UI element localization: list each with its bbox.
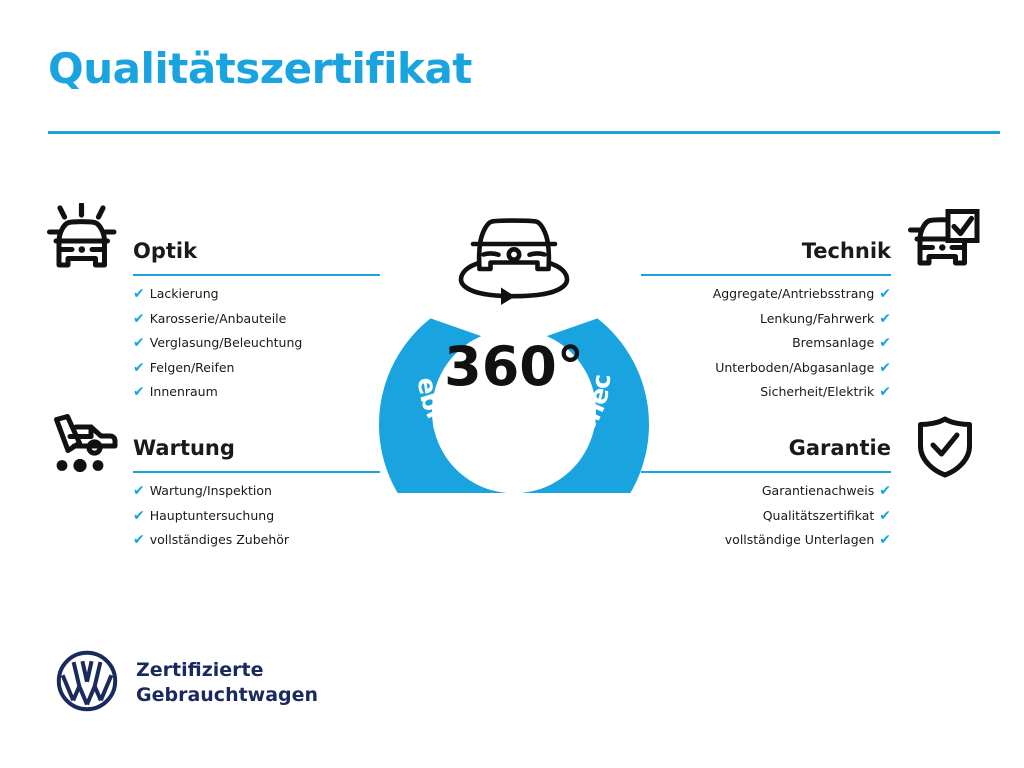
list-item: ✔vollständiges Zubehör xyxy=(133,528,380,553)
list-item-label: Garantienachweis xyxy=(762,483,874,498)
list-item: Sicherheit/Elektrik✔ xyxy=(641,380,891,405)
list-item: vollständige Unterlagen✔ xyxy=(641,528,891,553)
list-item: ✔Verglasung/Beleuchtung xyxy=(133,331,380,356)
list-item-label: Bremsanlage xyxy=(792,335,874,350)
check-icon: ✔ xyxy=(879,480,891,504)
check-icon: ✔ xyxy=(879,332,891,356)
list-item-label: Innenraum xyxy=(150,384,218,399)
list-item: ✔Innenraum xyxy=(133,380,380,405)
car-checkbox-icon xyxy=(908,209,980,275)
list-item: Lenkung/Fahrwerk✔ xyxy=(641,307,891,332)
list-item-label: vollständige Unterlagen xyxy=(725,532,874,547)
footer-logo-line2: Gebrauchtwagen xyxy=(136,683,318,708)
list-item-label: Aggregate/Antriebsstrang xyxy=(713,286,875,301)
check-icon: ✔ xyxy=(879,529,891,553)
section-technik-header: Technik xyxy=(641,238,891,282)
check-icon: ✔ xyxy=(133,308,145,332)
list-item: ✔Felgen/Reifen xyxy=(133,356,380,381)
footer-logo: Zertifizierte Gebrauchtwagen xyxy=(56,650,318,716)
header-divider xyxy=(48,131,1000,134)
check-icon: ✔ xyxy=(879,308,891,332)
list-item: Qualitätszertifikat✔ xyxy=(641,504,891,529)
list-item-label: vollständiges Zubehör xyxy=(150,532,289,547)
list-item: ✔Karosserie/Anbauteile xyxy=(133,307,380,332)
check-icon: ✔ xyxy=(879,357,891,381)
list-item-label: Lackierung xyxy=(150,286,219,301)
list-item-label: Unterboden/Abgasanlage xyxy=(715,360,874,375)
list-item: Unterboden/Abgasanlage✔ xyxy=(641,356,891,381)
shield-check-icon xyxy=(916,416,974,482)
360-gebrauchtwagen-check-badge: Gebrauchtwagen-Check 360° xyxy=(374,193,654,493)
list-item: Bremsanlage✔ xyxy=(641,331,891,356)
list-item: ✔Wartung/Inspektion xyxy=(133,479,380,504)
section-wartung-title: Wartung xyxy=(133,435,380,461)
list-item-label: Felgen/Reifen xyxy=(150,360,235,375)
section-optik: Optik ✔Lackierung ✔Karosserie/Anbauteile… xyxy=(133,238,380,405)
check-icon: ✔ xyxy=(879,381,891,405)
check-icon: ✔ xyxy=(879,283,891,307)
list-item: Garantienachweis✔ xyxy=(641,479,891,504)
footer-logo-text: Zertifizierte Gebrauchtwagen xyxy=(136,658,318,708)
check-icon: ✔ xyxy=(133,357,145,381)
section-wartung-underline xyxy=(133,471,380,473)
list-item-label: Lenkung/Fahrwerk xyxy=(760,311,874,326)
section-optik-title: Optik xyxy=(133,238,380,264)
section-wartung: Wartung ✔Wartung/Inspektion ✔Hauptunters… xyxy=(133,435,380,553)
list-item-label: Qualitätszertifikat xyxy=(763,508,875,523)
footer-logo-line1: Zertifizierte xyxy=(136,658,318,683)
list-item: ✔Hauptuntersuchung xyxy=(133,504,380,529)
check-icon: ✔ xyxy=(879,505,891,529)
section-wartung-header: Wartung xyxy=(133,435,380,479)
check-icon: ✔ xyxy=(133,332,145,356)
section-garantie-list: Garantienachweis✔ Qualitätszertifikat✔ v… xyxy=(641,479,891,553)
list-item-label: Karosserie/Anbauteile xyxy=(150,311,287,326)
list-item-label: Sicherheit/Elektrik xyxy=(760,384,874,399)
check-icon: ✔ xyxy=(133,505,145,529)
section-garantie-underline xyxy=(641,471,891,473)
section-optik-list: ✔Lackierung ✔Karosserie/Anbauteile ✔Verg… xyxy=(133,282,380,405)
vw-logo-icon xyxy=(56,650,118,716)
check-icon: ✔ xyxy=(133,480,145,504)
section-technik-underline xyxy=(641,274,891,276)
page-title: Qualitätszertifikat xyxy=(48,48,472,90)
section-optik-header: Optik xyxy=(133,238,380,282)
section-garantie-title: Garantie xyxy=(641,435,891,461)
section-optik-underline xyxy=(133,274,380,276)
badge-center-label: 360° xyxy=(444,335,584,398)
section-garantie: Garantie Garantienachweis✔ Qualitätszert… xyxy=(641,435,891,553)
list-item-label: Hauptuntersuchung xyxy=(150,508,274,523)
list-item: Aggregate/Antriebsstrang✔ xyxy=(641,282,891,307)
list-item-label: Wartung/Inspektion xyxy=(150,483,272,498)
section-wartung-list: ✔Wartung/Inspektion ✔Hauptuntersuchung ✔… xyxy=(133,479,380,553)
check-icon: ✔ xyxy=(133,381,145,405)
section-garantie-header: Garantie xyxy=(641,435,891,479)
section-technik-list: Aggregate/Antriebsstrang✔ Lenkung/Fahrwe… xyxy=(641,282,891,405)
list-item: ✔Lackierung xyxy=(133,282,380,307)
pencil-car-icon xyxy=(46,414,122,480)
list-item-label: Verglasung/Beleuchtung xyxy=(150,335,303,350)
section-technik-title: Technik xyxy=(641,238,891,264)
section-technik: Technik Aggregate/Antriebsstrang✔ Lenkun… xyxy=(641,238,891,405)
check-icon: ✔ xyxy=(133,529,145,553)
car-shine-icon xyxy=(47,203,117,279)
car-rotation-icon xyxy=(461,221,567,305)
check-icon: ✔ xyxy=(133,283,145,307)
